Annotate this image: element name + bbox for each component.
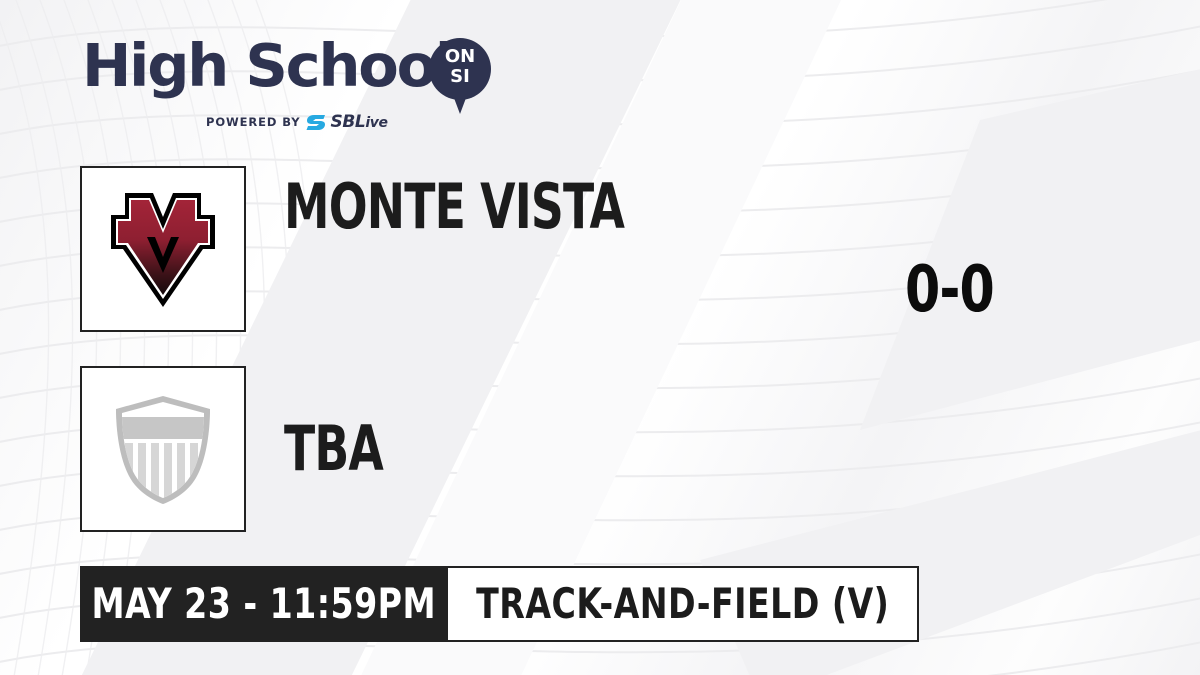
scoreboard-graphic: High School ON SI POWERED BY SBLive	[0, 0, 1200, 675]
monte-vista-logo-icon	[82, 168, 244, 330]
team-logo-box-tba	[80, 366, 246, 532]
brand-header: High School ON SI POWERED BY SBLive	[82, 36, 512, 136]
powered-by-block: POWERED BY SBLive	[206, 112, 388, 132]
game-datetime-block: MAY 23 - 11:59PM	[80, 566, 448, 642]
game-info-bar: MAY 23 - 11:59PM TRACK-AND-FIELD (V)	[80, 566, 916, 642]
sblive-logo: SBLive	[306, 112, 387, 132]
on-si-pin-icon: ON SI	[429, 38, 491, 116]
powered-by-label: POWERED BY	[206, 115, 300, 129]
sblive-lower: ive	[365, 115, 387, 131]
sblive-s-mark-icon	[306, 114, 328, 131]
pin-label-line2: SI	[429, 67, 491, 87]
tba-shield-icon	[82, 368, 244, 530]
pin-label-line1: ON	[429, 47, 491, 67]
game-sport-block: TRACK-AND-FIELD (V)	[448, 566, 919, 642]
team-name-monte-vista: MONTE VISTA	[284, 176, 624, 238]
sblive-upper: SBL	[330, 112, 365, 132]
sblive-wordmark: SBLive	[330, 112, 387, 132]
score-display: 0-0	[905, 258, 994, 322]
brand-title: High School	[82, 36, 453, 95]
game-sport-text: TRACK-AND-FIELD (V)	[476, 583, 889, 625]
pin-label: ON SI	[429, 47, 491, 87]
team-name-tba: TBA	[284, 418, 383, 480]
team-logo-box-monte-vista	[80, 166, 246, 332]
game-datetime-text: MAY 23 - 11:59PM	[92, 583, 437, 625]
